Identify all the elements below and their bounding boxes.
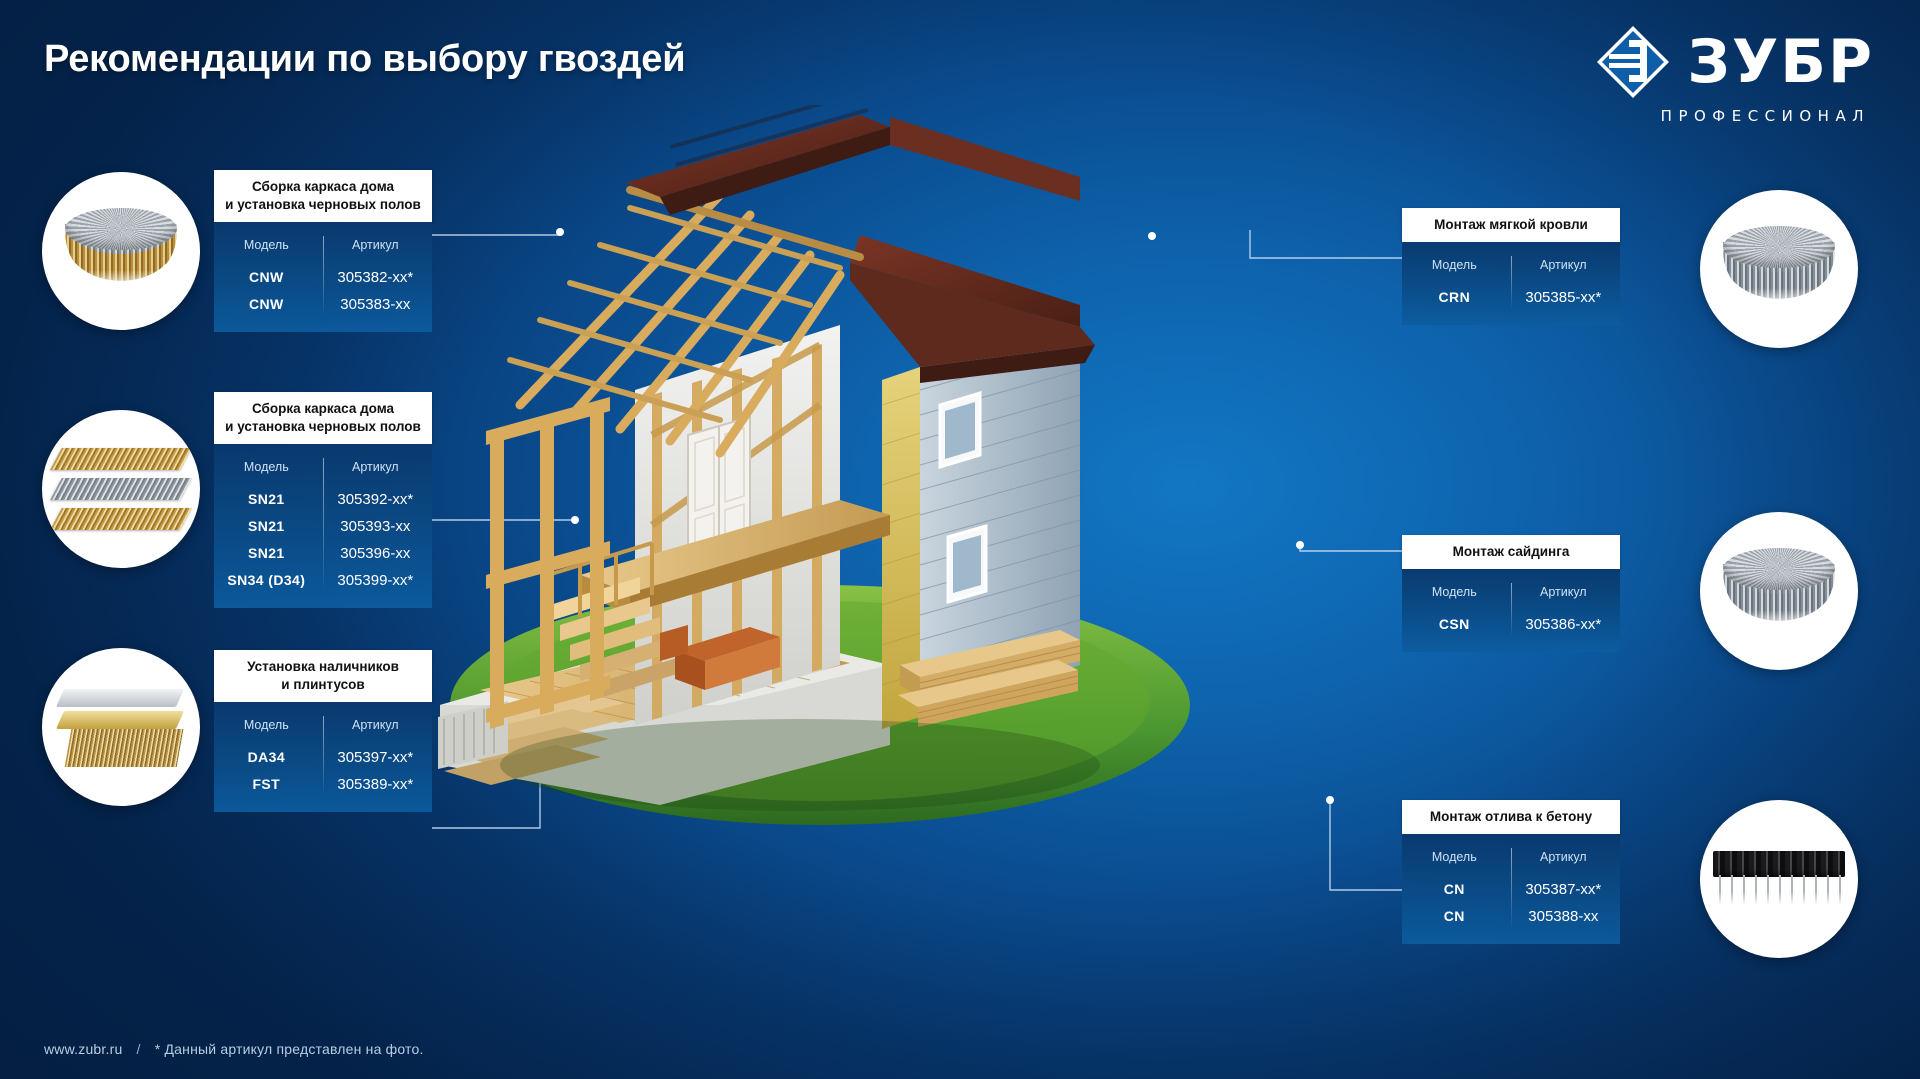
card-body: Модель Артикул CNW 305382-хх* CNW 305383… [214,222,432,332]
column-divider [1511,256,1512,309]
strip-nails-icon [42,410,200,568]
card-body: Модель Артикул SN21 305392-хх* SN21 3053… [214,444,432,608]
card-concrete-drip[interactable]: Монтаж отлива к бетону Модель Артикул CN… [1402,800,1620,944]
col-model: Модель [214,456,319,486]
card-trim-baseboard[interactable]: Установка наличников и плинтусов Модель … [214,650,432,812]
card-title-line-2: и установка черновых полов [220,418,426,436]
cell-article: 305385-хх* [1507,284,1620,311]
col-article: Артикул [319,714,432,744]
concrete-pin-strip-icon [1700,800,1858,958]
col-article: Артикул [1507,846,1620,876]
footer-site[interactable]: www.zubr.ru [44,1041,122,1057]
col-model: Модель [214,714,319,744]
col-article: Артикул [319,234,432,264]
col-model: Модель [214,234,319,264]
cell-model: CN [1402,876,1507,903]
card-soft-roofing[interactable]: Монтаж мягкой кровли Модель Артикул CRN … [1402,208,1620,325]
cell-model: CSN [1402,611,1507,638]
cell-model: DA34 [214,744,319,771]
card-title-line-1: Монтаж сайдинга [1408,543,1614,561]
card-title-line-1: Монтаж отлива к бетону [1408,808,1614,826]
card-header: Сборка каркаса дома и установка черновых… [214,170,432,222]
column-divider [323,458,324,592]
column-divider [323,236,324,316]
footer-separator: / [137,1041,141,1057]
cell-article: 305382-хх* [319,264,432,291]
card-title-line-1: Сборка каркаса дома [220,178,426,196]
cell-model: SN21 [214,513,319,540]
footer-note: * Данный артикул представлен на фото. [155,1041,424,1057]
card-title-line-1: Сборка каркаса дома [220,400,426,418]
cutaway-house-diagram [420,105,1220,865]
logo-subtitle: ПРОФЕССИОНАЛ [1661,107,1870,125]
cell-model: CN [1402,903,1507,930]
card-body: Модель Артикул CSN 305386-хх* [1402,569,1620,652]
cell-article: 305399-хх* [319,567,432,594]
card-header: Монтаж мягкой кровли [1402,208,1620,242]
zubr-diamond-icon [1595,24,1671,100]
brad-nails-icon [42,648,200,806]
col-article: Артикул [1507,581,1620,611]
cell-article: 305389-хх* [319,771,432,798]
cell-article: 305393-хх [319,513,432,540]
cell-article: 305388-хх [1507,903,1620,930]
cell-model: FST [214,771,319,798]
coil-nails-gold-icon [42,172,200,330]
card-body: Модель Артикул CRN 305385-хх* [1402,242,1620,325]
card-body: Модель Артикул CN 305387-хх* CN 305388-х… [1402,834,1620,944]
coil-roofing-nails-icon [1700,190,1858,348]
cell-article: 305387-хх* [1507,876,1620,903]
coil-siding-nails-icon [1700,512,1858,670]
cell-article: 305392-хх* [319,486,432,513]
logo-wordmark: ЗУБР [1687,34,1874,91]
col-model: Модель [1402,254,1507,284]
card-header: Монтаж сайдинга [1402,535,1620,569]
card-header: Монтаж отлива к бетону [1402,800,1620,834]
column-divider [1511,583,1512,636]
cell-model: CNW [214,264,319,291]
col-model: Модель [1402,581,1507,611]
card-title-line-2: и плинтусов [220,676,426,694]
col-article: Артикул [319,456,432,486]
column-divider [1511,848,1512,928]
col-article: Артикул [1507,254,1620,284]
card-body: Модель Артикул DA34 305397-хх* FST 30538… [214,702,432,812]
card-header: Установка наличников и плинтусов [214,650,432,702]
column-divider [323,716,324,796]
brand-logo: ЗУБР ПРОФЕССИОНАЛ [1595,24,1874,125]
cell-article: 305397-хх* [319,744,432,771]
footer: www.zubr.ru / * Данный артикул представл… [44,1041,424,1057]
page-title: Рекомендации по выбору гвоздей [44,38,685,81]
cell-model: CNW [214,291,319,318]
cell-model: SN21 [214,486,319,513]
card-siding[interactable]: Монтаж сайдинга Модель Артикул CSN 30538… [1402,535,1620,652]
card-frame-assembly-coil[interactable]: Сборка каркаса дома и установка черновых… [214,170,432,332]
cell-article: 305396-хх [319,540,432,567]
cell-model: SN34 (D34) [214,567,319,594]
col-model: Модель [1402,846,1507,876]
card-header: Сборка каркаса дома и установка черновых… [214,392,432,444]
card-frame-assembly-strip[interactable]: Сборка каркаса дома и установка черновых… [214,392,432,608]
card-title-line-1: Монтаж мягкой кровли [1408,216,1614,234]
card-title-line-1: Установка наличников [220,658,426,676]
cell-model: SN21 [214,540,319,567]
cell-article: 305383-хх [319,291,432,318]
card-title-line-2: и установка черновых полов [220,196,426,214]
cell-model: CRN [1402,284,1507,311]
cell-article: 305386-хх* [1507,611,1620,638]
